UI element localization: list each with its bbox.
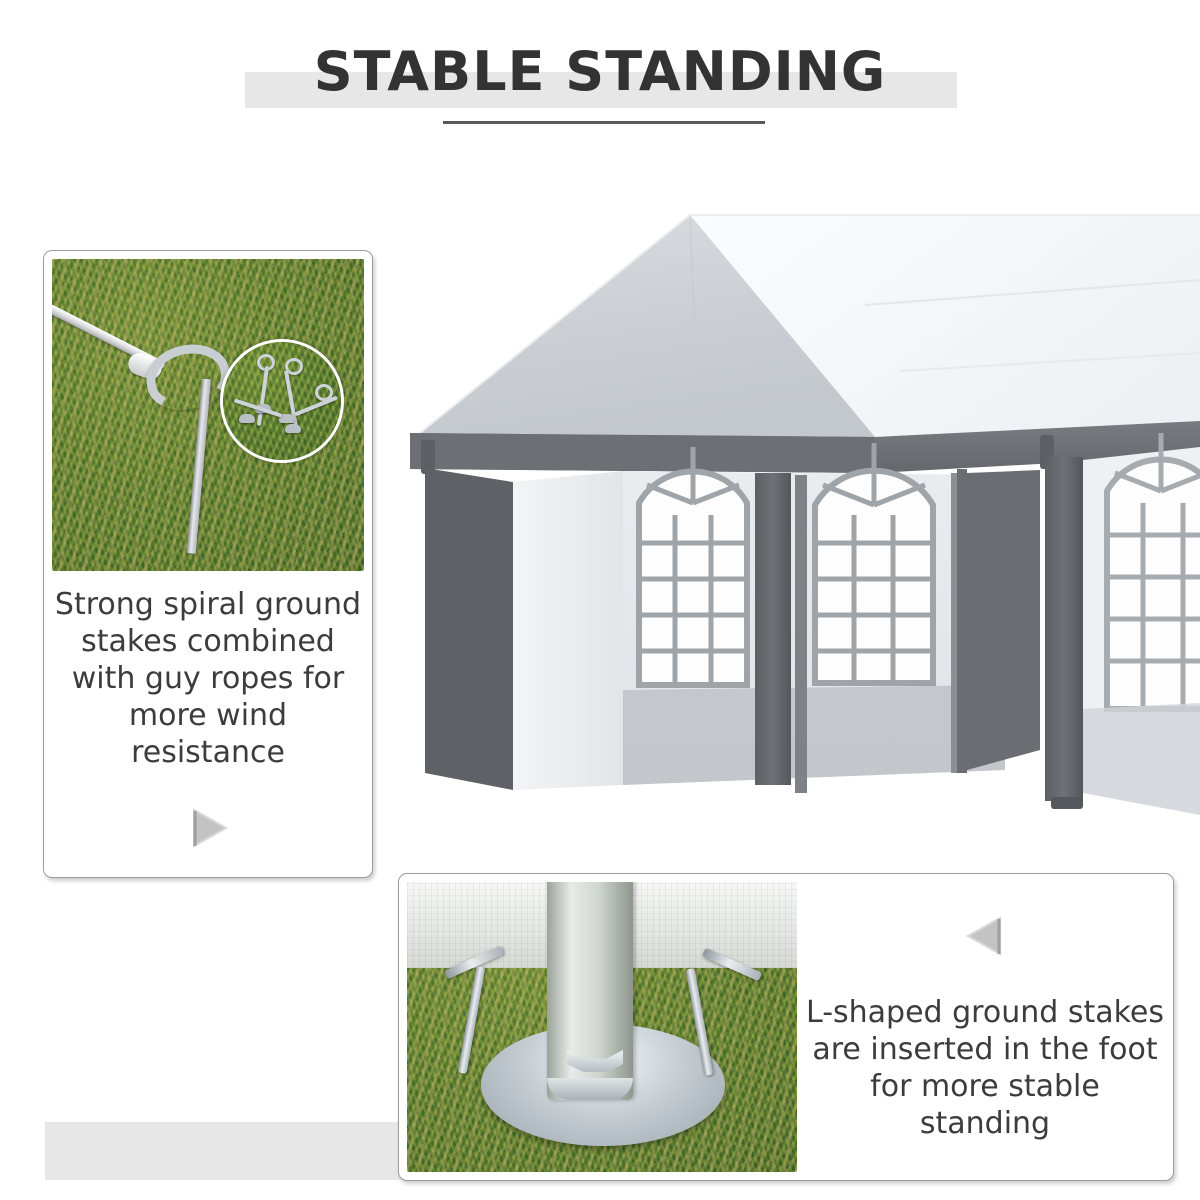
tent-corner-pole	[1045, 457, 1083, 801]
arrow-right-container	[44, 806, 374, 854]
feature-card-l-stakes: L-shaped ground stakes are inserted in t…	[398, 873, 1174, 1181]
l-shaped-stake-foot-plate-photo	[407, 882, 797, 1172]
stakes-inset-circle	[220, 339, 344, 463]
header: STABLE STANDING	[0, 0, 1200, 150]
tent-front-wall	[623, 443, 1040, 793]
tent-pole-slim	[795, 475, 807, 793]
product-tent-illustration	[395, 185, 1200, 845]
mini-stake-cap-3	[285, 424, 301, 433]
mini-stake-cap-4	[239, 414, 255, 423]
feature-card-guy-ropes: Strong spiral ground stakes combined wit…	[43, 250, 373, 878]
arrow-left-container	[803, 914, 1167, 962]
arrow-left-icon	[962, 914, 1008, 958]
spiral-ground-stake-with-guy-rope-photo	[52, 259, 364, 571]
tent-roof	[415, 215, 1200, 437]
tent-svg	[395, 185, 1200, 845]
tent-open-flap-panel	[425, 468, 623, 790]
feature-caption-guy-ropes: Strong spiral ground stakes combined wit…	[52, 586, 364, 771]
title-divider-rule	[443, 121, 765, 124]
arrow-right-icon	[186, 806, 232, 850]
tent-window-1	[639, 447, 747, 685]
page-title: STABLE STANDING	[0, 40, 1200, 103]
tent-center-pole	[755, 473, 791, 785]
tent-window-3	[1107, 433, 1200, 709]
pole-collar	[547, 1078, 633, 1100]
feature-caption-l-stakes: L-shaped ground stakes are inserted in t…	[803, 994, 1167, 1142]
tent-foot-plate	[1051, 797, 1083, 809]
tent-inner-flap	[967, 470, 1040, 770]
